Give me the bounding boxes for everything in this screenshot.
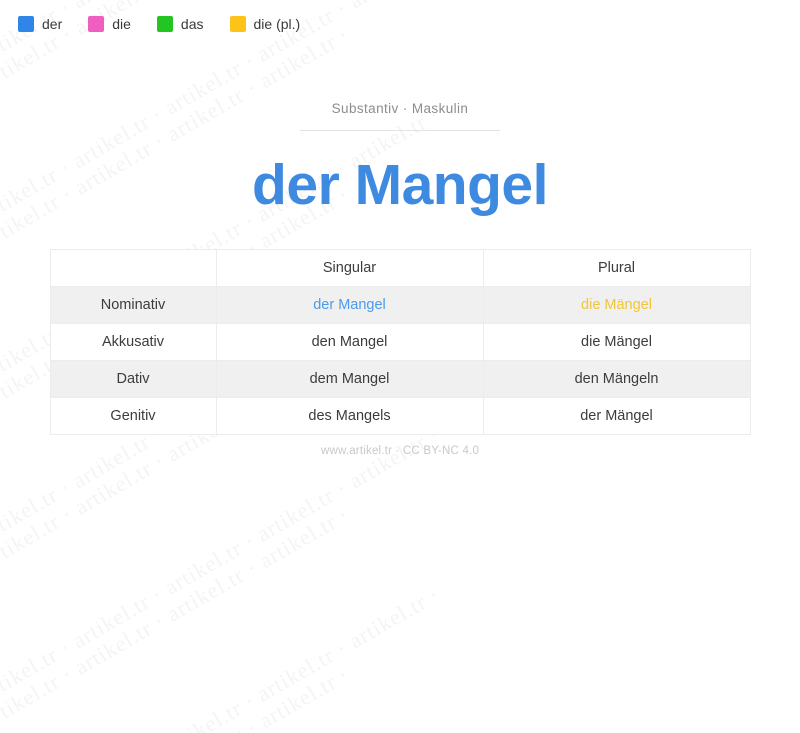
footer-attribution: www.artikel.tr · CC BY-NC 4.0 [0, 445, 800, 457]
declension-card: Substantiv · Maskulin der Mangel Singula… [0, 0, 800, 457]
header-divider [300, 130, 500, 131]
table-cell-plural: die Mängel [483, 286, 750, 323]
table-cell-plural: der Mängel [483, 397, 750, 434]
table-cell-singular: den Mangel [216, 323, 483, 360]
color-swatch-icon [157, 16, 173, 32]
table-cell-singular: dem Mangel [216, 360, 483, 397]
table-cell-plural: den Mängeln [483, 360, 750, 397]
watermark-text: artikel.tr · artikel.tr · artikel.tr · a… [0, 539, 800, 733]
table-cell-case: Akkusativ [50, 323, 216, 360]
legend-item: das [157, 16, 204, 32]
article-color-legend: derdiedasdie (pl.) [18, 16, 300, 32]
color-swatch-icon [18, 16, 34, 32]
column-header-case [50, 249, 216, 286]
table-cell-case: Nominativ [50, 286, 216, 323]
table-header-row: Singular Plural [50, 249, 750, 286]
table-cell-singular: des Mangels [216, 397, 483, 434]
declension-table: Singular Plural Nominativder Mangeldie M… [50, 249, 751, 435]
watermark-text: artikel.tr · artikel.tr · artikel.tr · a… [0, 664, 800, 733]
legend-item: der [18, 16, 62, 32]
page-title: der Mangel [0, 153, 800, 219]
table-body: Nominativder Mangeldie MängelAkkusativde… [50, 286, 750, 434]
table-row: Nominativder Mangeldie Mängel [50, 286, 750, 323]
table-header: Singular Plural [50, 249, 750, 286]
table-row: Genitivdes Mangelsder Mängel [50, 397, 750, 434]
legend-item-label: der [42, 16, 62, 32]
column-header-singular: Singular [216, 249, 483, 286]
watermark-text: artikel.tr · artikel.tr · artikel.tr · a… [0, 699, 800, 733]
word-type-subtitle: Substantiv · Maskulin [332, 101, 469, 130]
color-swatch-icon [88, 16, 104, 32]
watermark-text: artikel.tr · artikel.tr · artikel.tr · a… [0, 504, 800, 733]
word-type-header: Substantiv · Maskulin [0, 100, 800, 131]
legend-item-label: die [112, 16, 131, 32]
table-cell-case: Genitiv [50, 397, 216, 434]
table-row: Dativdem Mangelden Mängeln [50, 360, 750, 397]
legend-item: die [88, 16, 131, 32]
legend-item-label: das [181, 16, 204, 32]
color-swatch-icon [230, 16, 246, 32]
legend-item: die (pl.) [230, 16, 301, 32]
table-row: Akkusativden Mangeldie Mängel [50, 323, 750, 360]
legend-item-label: die (pl.) [254, 16, 301, 32]
table-cell-singular: der Mangel [216, 286, 483, 323]
table-cell-plural: die Mängel [483, 323, 750, 360]
column-header-plural: Plural [483, 249, 750, 286]
table-cell-case: Dativ [50, 360, 216, 397]
